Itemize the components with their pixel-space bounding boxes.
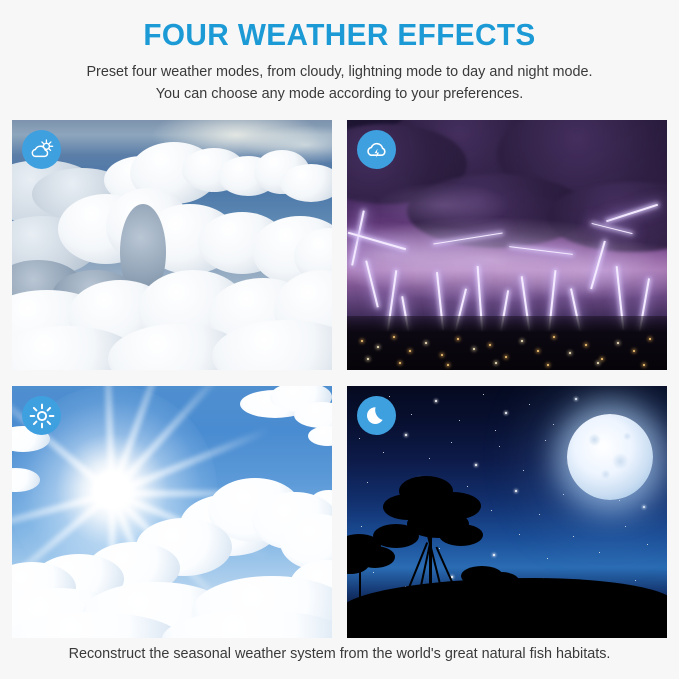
weather-mode-grid [12, 120, 667, 638]
weather-panel-cloudy[interactable] [12, 120, 332, 370]
cloud-sun-badge[interactable] [22, 130, 61, 169]
page-root: FOUR WEATHER EFFECTS Preset four weather… [0, 0, 679, 679]
subtitle-line-1: Preset four weather modes, from cloudy, … [20, 62, 660, 84]
moon-badge[interactable] [357, 396, 396, 435]
subtitle-line-2: You can choose any mode according to you… [20, 84, 660, 106]
cloud-sun-icon [29, 137, 55, 163]
sun-icon [29, 403, 55, 429]
page-subtitle: Preset four weather modes, from cloudy, … [20, 62, 660, 105]
full-moon [567, 414, 653, 500]
hill-silhouette [347, 578, 667, 638]
footer-caption: Reconstruct the seasonal weather system … [0, 646, 679, 662]
sun-badge[interactable] [22, 396, 61, 435]
header: FOUR WEATHER EFFECTS Preset four weather… [0, 0, 679, 105]
weather-panel-lightning[interactable] [347, 120, 667, 370]
weather-panel-day[interactable] [12, 386, 332, 638]
page-title: FOUR WEATHER EFFECTS [14, 18, 666, 52]
city-lights [347, 316, 667, 370]
city-skyline [347, 316, 667, 370]
weather-panel-night[interactable] [347, 386, 667, 638]
cloud-lightning-icon [364, 137, 390, 163]
moon-icon [364, 403, 390, 429]
cloud-lightning-badge[interactable] [357, 130, 396, 169]
